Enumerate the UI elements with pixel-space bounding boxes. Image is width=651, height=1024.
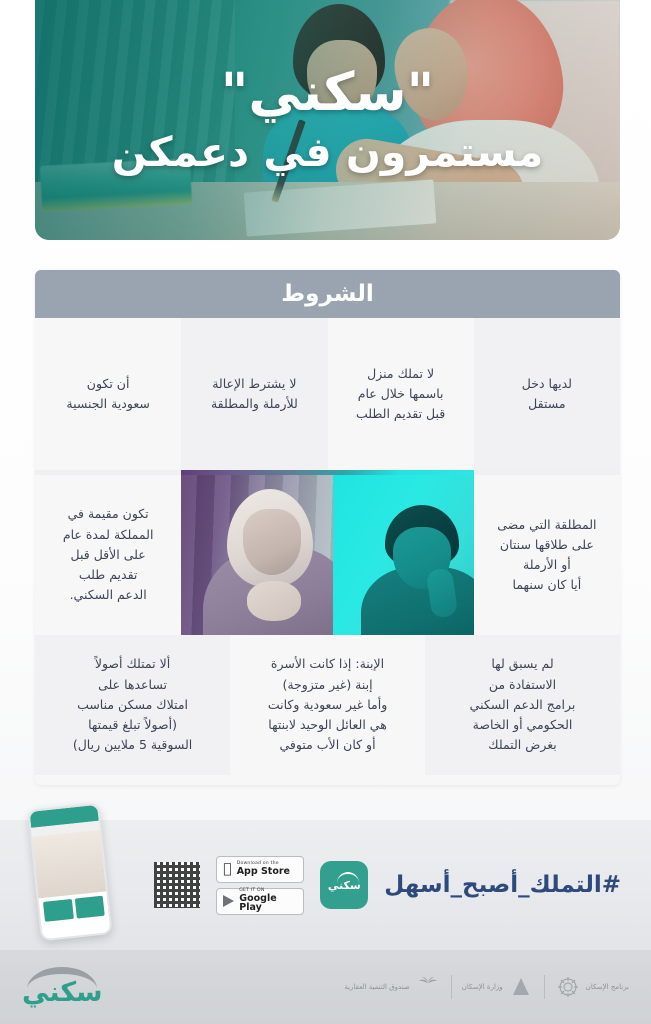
- condition-text: لديها دخلمستقل: [522, 374, 572, 415]
- app-store-badge-big: App Store: [237, 867, 290, 877]
- condition-card-no-previous-benefit: لم يسبق لهاالاستفادة منبرامج الدعم السكن…: [425, 635, 620, 775]
- condition-card-daughter-case: الإبنة: إذا كانت الأسرةإبنة (غير متزوجة)…: [230, 635, 425, 775]
- store-badges:  Download on the App Store GET IT ON Go…: [216, 856, 304, 915]
- condition-card-saudi-nationality: أن تكونسعودية الجنسية: [35, 318, 181, 470]
- campaign-hashtag: #التملك_أصبح_أسهل: [384, 872, 621, 898]
- hero-title: "سكني": [221, 64, 434, 121]
- condition-text: لم يسبق لهاالاستفادة منبرامج الدعم السكن…: [470, 654, 576, 755]
- logo-divider: [451, 975, 452, 999]
- condition-text: الإبنة: إذا كانت الأسرةإبنة (غير متزوجة)…: [268, 654, 387, 755]
- phone-device: [27, 803, 112, 942]
- app-store-badge[interactable]:  Download on the App Store: [216, 856, 304, 883]
- google-play-icon: [223, 895, 234, 907]
- partner-logo-real-estate-fund: صندوق التنمية العقارية: [344, 974, 440, 1000]
- conditions-title: الشروط: [281, 281, 373, 307]
- sakani-app-icon[interactable]: سكني: [320, 861, 368, 909]
- partner-label: برنامج الإسكان: [586, 983, 629, 992]
- sakani-brand-logo: سكني: [22, 967, 103, 1008]
- infographic-page: "سكني" مستمرون في دعمكن الشروط لديها دخل…: [0, 0, 651, 1024]
- phone-mockup: [18, 806, 136, 966]
- conditions-row-2: المطلقة التي مضىعلى طلاقها سنتانأو الأرم…: [35, 475, 620, 635]
- condition-card-divorced-or-widowed: المطلقة التي مضىعلى طلاقها سنتانأو الأرم…: [474, 475, 620, 635]
- brand-word: سكني: [22, 977, 103, 1008]
- google-play-badge-big: Google Play: [239, 894, 297, 913]
- hero-text-block: "سكني" مستمرون في دعمكن: [35, 0, 620, 240]
- condition-text: تكون مقيمة فيالمملكة لمدة عامعلى الأقل ق…: [63, 504, 154, 605]
- partner-logo-ministry-of-housing: وزارة الإسكان: [462, 974, 534, 1000]
- conditions-panel: الشروط لديها دخلمستقل لا تملك منزلباسمها…: [35, 270, 620, 785]
- condition-text: ألا تمتلك أصولاًتساعدها علىامتلاك مسكن م…: [73, 654, 192, 755]
- conditions-row-1: لديها دخلمستقل لا تملك منزلباسمها خلال ع…: [35, 318, 620, 470]
- qr-code-icon[interactable]: [154, 862, 200, 908]
- partner-logos: برنامج الإسكان وزارة الإسكان: [344, 974, 629, 1000]
- logo-divider: [544, 975, 545, 999]
- duotone-boy-photo: [333, 475, 473, 635]
- partner-label: صندوق التنمية العقارية: [344, 983, 409, 992]
- house-roof-icon: [337, 872, 359, 883]
- condition-card-no-dependency-required: لا يشترط الإعالةللأرملة والمطلقة: [181, 318, 327, 470]
- google-play-badge[interactable]: GET IT ON Google Play: [216, 888, 304, 915]
- condition-card-resident-one-year: تكون مقيمة فيالمملكة لمدة عامعلى الأقل ق…: [35, 475, 181, 635]
- condition-card-no-house-owned: لا تملك منزلباسمها خلال عامقبل تقديم الط…: [328, 318, 474, 470]
- partner-label: وزارة الإسكان: [462, 983, 503, 992]
- hero-banner: "سكني" مستمرون في دعمكن: [35, 0, 620, 240]
- condition-text: أن تكونسعودية الجنسية: [66, 374, 149, 415]
- apple-icon: : [223, 862, 231, 876]
- condition-text: لا يشترط الإعالةللأرملة والمطلقة: [211, 374, 298, 415]
- partners-bar: برنامج الإسكان وزارة الإسكان: [0, 950, 651, 1024]
- palm-icon: [415, 974, 441, 1000]
- partner-logo-housing-program: برنامج الإسكان: [555, 974, 629, 1000]
- duotone-woman-photo: [181, 475, 333, 635]
- conditions-panel-header: الشروط: [35, 270, 620, 318]
- condition-text: المطلقة التي مضىعلى طلاقها سنتانأو الأرم…: [497, 515, 596, 596]
- condition-card-no-sufficient-assets: ألا تمتلك أصولاًتساعدها علىامتلاك مسكن م…: [35, 635, 230, 775]
- duotone-photo-strip: [181, 475, 474, 635]
- condition-card-independent-income: لديها دخلمستقل: [474, 318, 620, 470]
- condition-text: لا تملك منزلباسمها خلال عامقبل تقديم الط…: [356, 364, 445, 425]
- conditions-row-3: لم يسبق لهاالاستفادة منبرامج الدعم السكن…: [35, 635, 620, 785]
- ministry-icon: [508, 974, 534, 1000]
- rosette-icon: [555, 974, 581, 1000]
- hero-subtitle: مستمرون في دعمكن: [112, 129, 543, 176]
